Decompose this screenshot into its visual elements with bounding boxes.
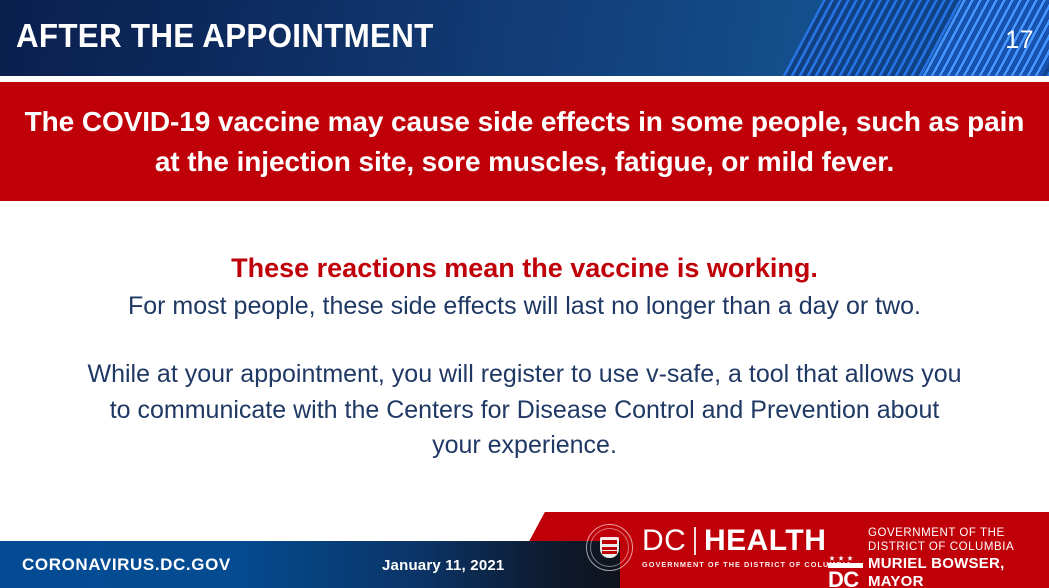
dc-flag-icon: DC (828, 555, 863, 588)
page-title: AFTER THE APPOINTMENT (16, 17, 434, 55)
callout-banner: The COVID-19 vaccine may cause side effe… (0, 82, 1049, 201)
callout-banner-text: The COVID-19 vaccine may cause side effe… (18, 102, 1031, 182)
dc-seal-icon (586, 524, 633, 571)
slide-footer: CORONAVIRUS.DC.GOV January 11, 2021 DC H… (0, 500, 1049, 588)
dc-flag-stars-icon (828, 555, 863, 561)
body-paragraph: While at your appointment, you will regi… (45, 357, 1004, 464)
dc-government-line1: GOVERNMENT OF THE (868, 527, 1049, 541)
page-number: 17 (1005, 26, 1034, 55)
dc-health-health-text: HEALTH (704, 526, 826, 556)
star-icon (847, 555, 853, 561)
dc-government-line2: DISTRICT OF COLUMBIA (868, 541, 1049, 555)
slide: AFTER THE APPOINTMENT 17 The COVID-19 va… (0, 0, 1049, 588)
dc-health-wordmark-top: DC HEALTH (642, 526, 852, 556)
footer-date: January 11, 2021 (382, 557, 504, 574)
slide-body: These reactions mean the vaccine is work… (0, 225, 1049, 505)
dc-health-logo: DC HEALTH GOVERNMENT OF THE DISTRICT OF … (586, 524, 852, 571)
divider-icon (694, 527, 696, 555)
dc-health-dc-text: DC (642, 526, 686, 556)
dc-government-mayor-line: MURIEL BOWSER, MAYOR (868, 555, 1049, 588)
footer-website-url[interactable]: CORONAVIRUS.DC.GOV (22, 555, 231, 575)
slide-header: AFTER THE APPOINTMENT 17 (0, 0, 1049, 76)
body-lead-subtext: For most people, these side effects will… (45, 291, 1004, 322)
dc-government-mark-text: DC (828, 570, 863, 588)
shield-icon (600, 537, 619, 558)
dc-government-text-block: GOVERNMENT OF THE DISTRICT OF COLUMBIA M… (868, 527, 1049, 588)
star-icon (829, 555, 835, 561)
dc-health-subtitle: GOVERNMENT OF THE DISTRICT OF COLUMBIA (642, 560, 852, 569)
dc-government-logo: DC GOVERNMENT OF THE DISTRICT OF COLUMBI… (828, 527, 1049, 588)
dc-health-wordmark: DC HEALTH GOVERNMENT OF THE DISTRICT OF … (642, 526, 852, 569)
body-lead-headline: These reactions mean the vaccine is work… (45, 252, 1004, 285)
star-icon (838, 555, 844, 561)
